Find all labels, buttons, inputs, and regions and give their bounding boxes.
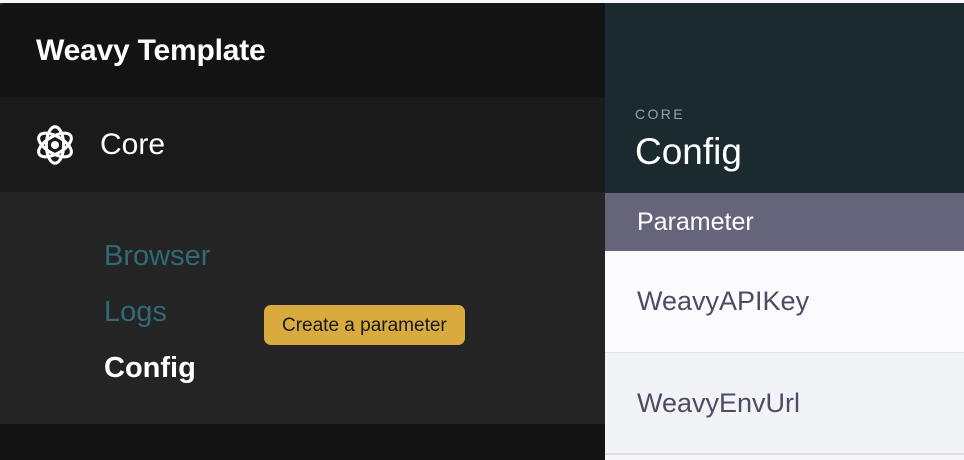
project-name: Core bbox=[100, 130, 165, 160]
create-parameter-button[interactable]: Create a parameter bbox=[264, 305, 465, 345]
detail-panel: CORE Config Parameter WeavyAPIKey WeavyE… bbox=[605, 3, 964, 460]
detail-header: CORE Config bbox=[605, 3, 964, 193]
table-row[interactable]: WeavyEnvUrl bbox=[605, 352, 964, 453]
table-row-separator bbox=[605, 453, 964, 455]
project-row[interactable]: Core bbox=[0, 97, 605, 192]
sidebar-item-logs-label: Logs bbox=[104, 298, 167, 327]
atom-icon bbox=[32, 122, 78, 168]
sidebar-item-browser[interactable]: Browser bbox=[104, 228, 574, 284]
table-row[interactable]: WeavyAPIKey bbox=[605, 251, 964, 352]
sidebar-footer bbox=[0, 424, 605, 460]
sidebar-item-config-label: Config bbox=[104, 354, 196, 383]
app-window: Weavy Template Core Browser Logs bbox=[0, 0, 964, 460]
cell-parameter: WeavyAPIKey bbox=[637, 288, 809, 315]
sidebar-nav: Browser Logs Config Create a parameter bbox=[0, 192, 605, 424]
sidebar-item-config[interactable]: Config bbox=[104, 340, 574, 396]
sidebar-panel: Weavy Template Core Browser Logs bbox=[0, 3, 605, 460]
page-title: Config bbox=[635, 133, 964, 170]
sidebar-item-browser-label: Browser bbox=[104, 242, 210, 271]
table-header-row: Parameter bbox=[605, 193, 964, 251]
app-title: Weavy Template bbox=[36, 36, 266, 66]
column-header-parameter[interactable]: Parameter bbox=[637, 210, 754, 235]
brand-header: Weavy Template bbox=[0, 5, 605, 97]
breadcrumb: CORE bbox=[635, 107, 964, 121]
cell-parameter: WeavyEnvUrl bbox=[637, 390, 800, 417]
